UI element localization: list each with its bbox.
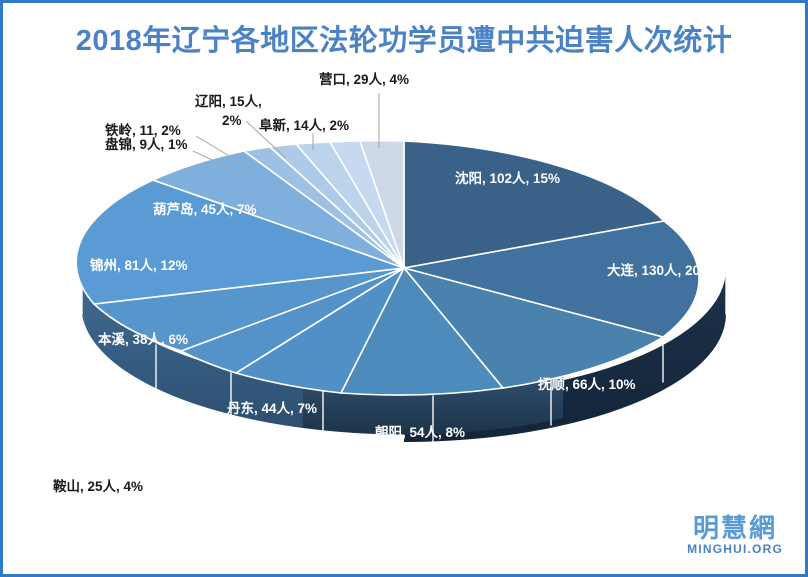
label-liaoyang-line2: 2% [222, 113, 242, 128]
label-anshan: 鞍山, 25人, 4% [53, 478, 143, 494]
label-chaoyang: 朝阳, 54人, 8% [375, 424, 465, 440]
label-huludao: 葫芦岛, 45人, 7% [153, 201, 257, 217]
label-yingkou: 营口, 29人, 4% [319, 71, 409, 87]
label-liaoyang-line1: 辽阳, 15人, [195, 94, 262, 109]
label-jinzhou: 锦州, 81人, 12% [90, 257, 188, 273]
chart-page: 2018年辽宁各地区法轮功学员遭中共迫害人次统计 [0, 0, 808, 577]
label-tieling: 铁岭, 11, 2% [105, 122, 181, 138]
label-panjin: 盘锦, 9人, 1% [105, 136, 188, 152]
watermark-en-text: MINGHUI.ORG [687, 543, 783, 556]
label-fushun: 抚顺, 66人, 10% [538, 376, 636, 392]
label-shenyang: 沈阳, 102人, 15% [455, 170, 560, 186]
label-fuxin: 阜新, 14人, 2% [259, 117, 349, 133]
label-dalian: 大连, 130人, 20% [607, 262, 712, 278]
label-benxi: 本溪, 38人, 6% [98, 331, 188, 347]
pie-chart: 沈阳, 102人, 15% 大连, 130人, 20% 抚顺, 66人, 10%… [3, 3, 808, 577]
watermark-cn-text: 明慧網 [687, 515, 783, 542]
label-dandong: 丹东, 44人, 7% [227, 400, 317, 416]
minghui-watermark: 明慧網 MINGHUI.ORG [687, 515, 783, 556]
